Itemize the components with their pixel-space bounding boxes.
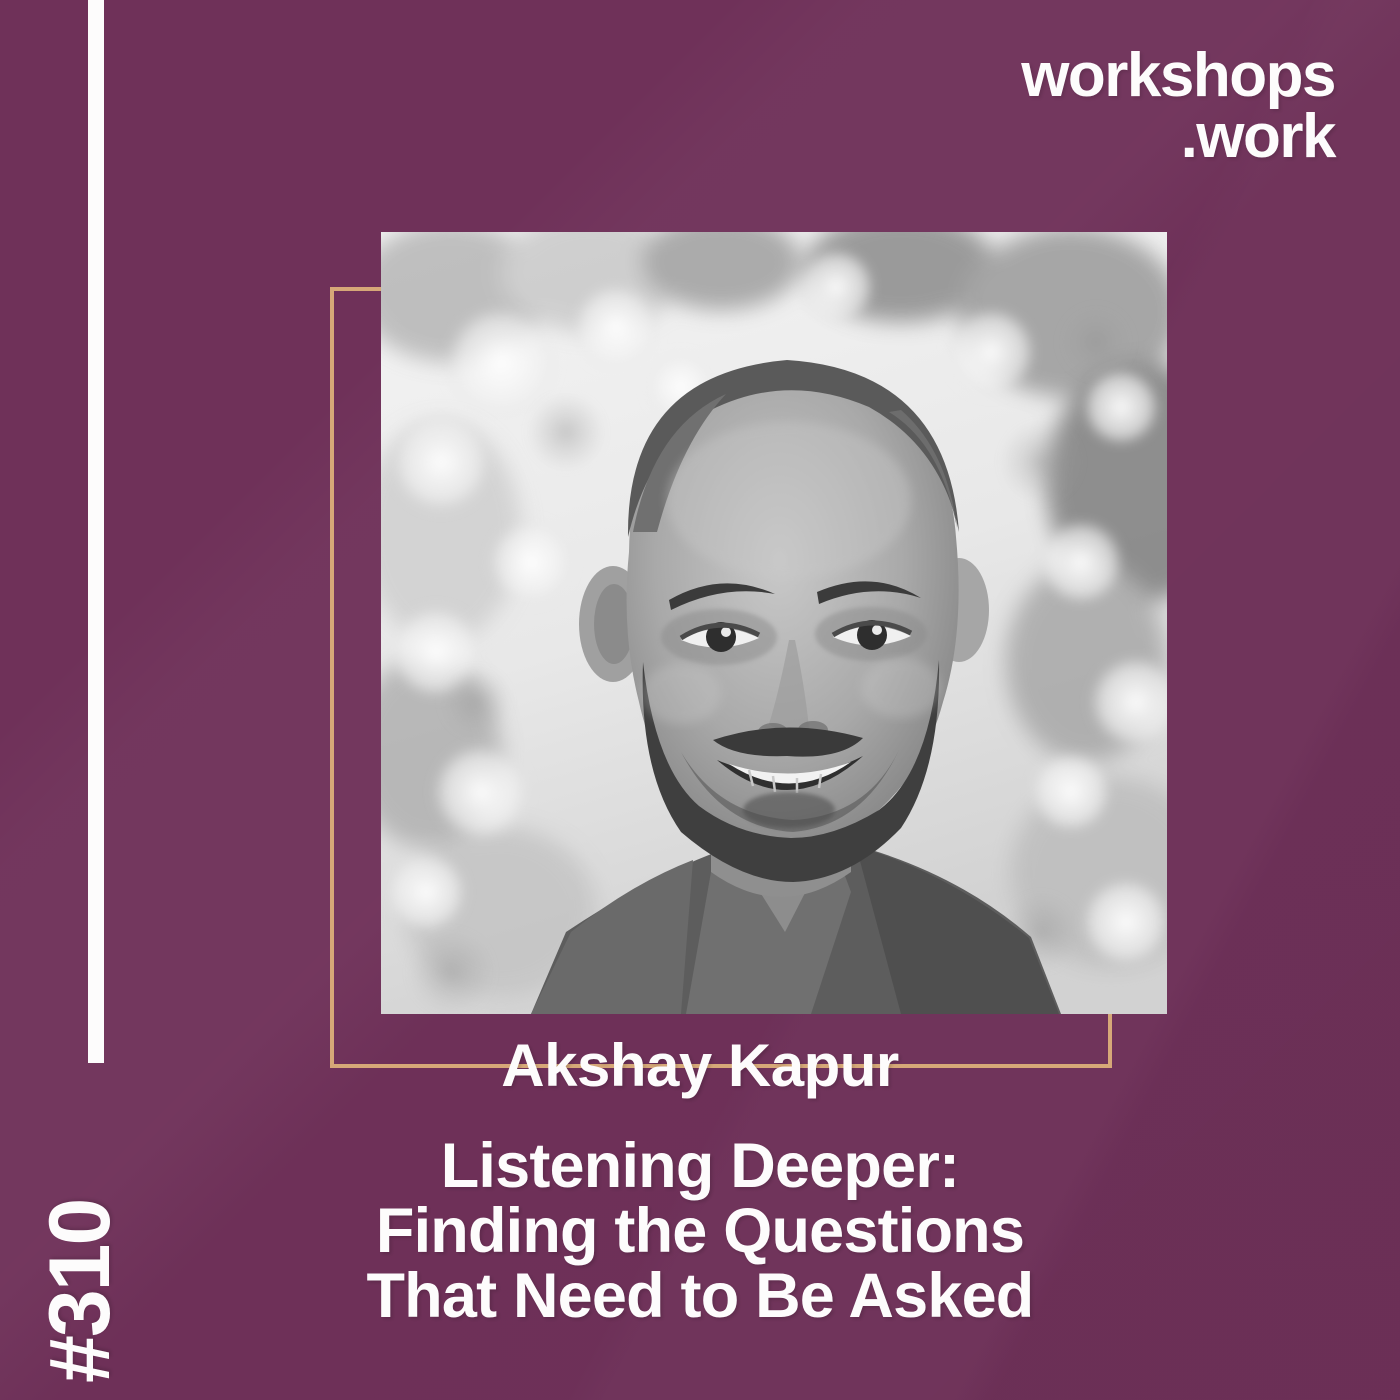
speaker-portrait-photo bbox=[381, 232, 1167, 1014]
episode-title-line-1: Listening Deeper: bbox=[0, 1134, 1400, 1199]
episode-title: Listening Deeper: Finding the Questions … bbox=[0, 1134, 1400, 1329]
episode-title-line-3: That Need to Be Asked bbox=[0, 1264, 1400, 1329]
portrait-illustration bbox=[381, 232, 1167, 1014]
brand-logo-line-2: .work bbox=[1021, 107, 1335, 168]
speaker-name: Akshay Kapur bbox=[0, 1036, 1400, 1096]
vertical-rule-decoration bbox=[88, 0, 104, 1063]
brand-logo-line-1: workshops bbox=[1021, 46, 1335, 107]
episode-title-line-2: Finding the Questions bbox=[0, 1199, 1400, 1264]
brand-logo[interactable]: workshops .work bbox=[1021, 46, 1335, 168]
